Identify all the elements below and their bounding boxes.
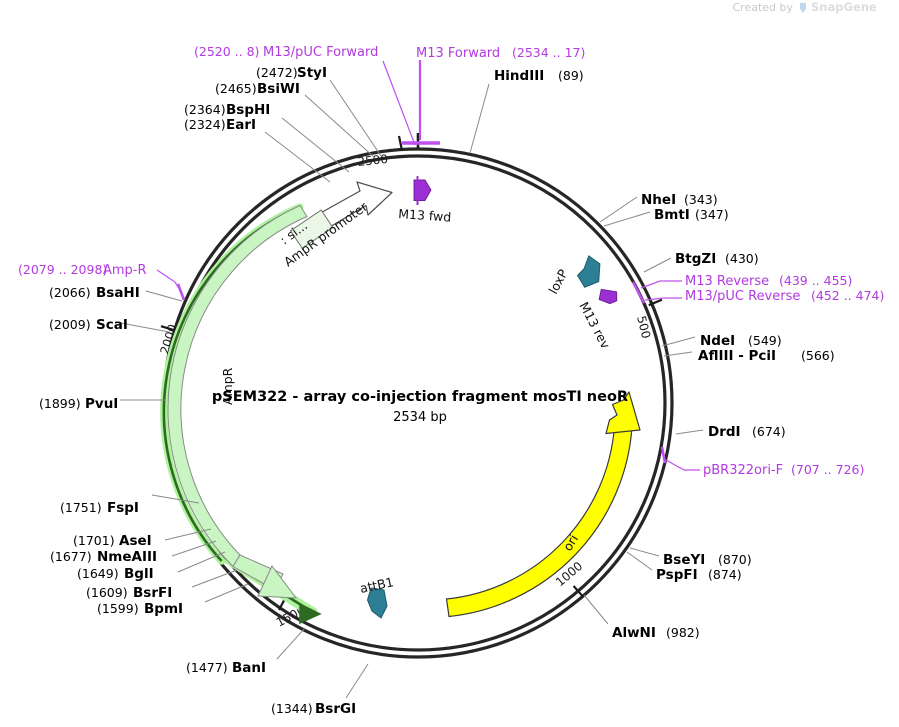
leader-line [205, 584, 248, 602]
enzyme-annotation-pvui[interactable]: (1899) PvuI [39, 396, 165, 412]
feature-ampr-promoter[interactable]: : si... AmpR promoter [277, 182, 392, 269]
primer-range: (2079 .. 2098) [18, 262, 107, 277]
primer-name: M13/pUC Reverse [685, 289, 800, 304]
primer-range: (452 .. 474) [811, 288, 884, 303]
enzyme-position: (982) [666, 625, 700, 640]
leader-line [600, 197, 637, 222]
enzyme-name: ScaI [96, 317, 128, 333]
enzyme-position: (430) [725, 251, 759, 266]
leader-line [305, 95, 375, 158]
enzyme-name: BspHI [226, 102, 270, 118]
leader-line [146, 291, 182, 301]
enzyme-name: BsiWI [257, 81, 300, 97]
enzyme-name: FspI [107, 500, 139, 516]
enzyme-position: (549) [748, 333, 782, 348]
feature-ori[interactable]: ori [447, 392, 641, 617]
leader-line [383, 61, 415, 145]
leader-line [662, 337, 695, 346]
enzyme-name: NdeI [700, 333, 735, 349]
leader-line [641, 281, 682, 288]
enzyme-name: AflIII - PciI [698, 348, 776, 364]
enzyme-name: AseI [119, 533, 152, 549]
enzyme-name: PvuI [85, 396, 118, 412]
enzyme-name: StyI [297, 65, 327, 81]
enzyme-annotation-drdi[interactable]: DrdI (674) [676, 424, 786, 440]
enzyme-name: PspFI [656, 567, 698, 583]
enzyme-name: BsrFI [133, 585, 172, 601]
primer-range: (2534 .. 17) [512, 45, 585, 60]
primer-range: (2520 .. 8) [194, 44, 259, 59]
enzyme-annotation-bsrgi[interactable]: (1344) BsrGI [271, 664, 368, 717]
enzyme-name: BsaHI [96, 285, 140, 301]
loxp-label: loxP [545, 266, 571, 296]
page-title: pSEM322 - array co-injection fragment mo… [212, 389, 628, 405]
enzyme-annotation-bmti[interactable]: BmtI (347) [604, 207, 729, 226]
primer-range: (707 .. 726) [791, 462, 864, 477]
enzyme-name: EarI [226, 117, 256, 133]
enzyme-name: BtgZI [675, 251, 716, 267]
primer-annotation-m13puc-reverse[interactable]: M13/pUC Reverse (452 .. 474) [645, 288, 884, 304]
enzyme-position: (2009) [49, 317, 91, 332]
feature-m13-rev[interactable]: M13 rev [576, 285, 620, 351]
enzyme-position: (870) [718, 552, 752, 567]
enzyme-annotation-btgzi[interactable]: BtgZI (430) [644, 251, 759, 272]
attb1-label: attB1 [359, 574, 395, 596]
enzyme-name: BmtI [654, 207, 690, 223]
primer-annotation-m13-forward[interactable]: M13 Forward (2534 .. 17) [402, 45, 585, 143]
enzyme-position: (343) [684, 192, 718, 207]
leader-line [627, 552, 652, 570]
enzyme-name: HindIII [494, 68, 544, 84]
enzyme-name: BanI [232, 660, 266, 676]
feature-loxp[interactable]: loxP [545, 254, 603, 296]
primer-name: Amp-R [103, 263, 147, 278]
primer-span-bar [178, 284, 184, 300]
leader-line [277, 628, 305, 659]
snapgene-watermark: Created by SnapGene [732, 0, 876, 14]
leader-line [676, 430, 703, 434]
m13-rev-label: M13 rev [576, 299, 613, 351]
leader-line [666, 460, 700, 470]
enzyme-name: BsrGI [315, 701, 356, 717]
enzyme-name: AlwNI [612, 625, 656, 641]
leader-line [157, 270, 183, 295]
enzyme-position: (674) [752, 424, 786, 439]
leader-line [346, 664, 368, 698]
enzyme-name: BpmI [144, 601, 183, 617]
enzyme-name: NmeAIII [97, 549, 157, 565]
feature-attb1[interactable]: attB1 [359, 574, 395, 618]
enzyme-position: (1477) [186, 660, 228, 675]
leader-line [470, 84, 489, 153]
feature-m13-fwd[interactable]: M13 fwd [398, 176, 452, 225]
enzyme-name: NheI [641, 192, 676, 208]
enzyme-position: (1649) [77, 566, 119, 581]
watermark-brand: SnapGene [811, 0, 877, 14]
enzyme-position: (566) [801, 348, 835, 363]
m13-rev-arrow-icon [597, 285, 620, 306]
primer-span-bar [662, 447, 665, 463]
enzyme-annotation-bsahi[interactable]: (2066) BsaHI [49, 285, 182, 301]
enzyme-position: (1609) [86, 585, 128, 600]
enzyme-position: (1899) [39, 396, 81, 411]
leader-line [330, 80, 381, 156]
enzyme-annotation-bani[interactable]: (1477) BanI [186, 628, 305, 676]
leader-line [192, 570, 237, 587]
enzyme-annotation-scai[interactable]: (2009) ScaI [49, 317, 169, 333]
primer-name: pBR322ori-F [703, 463, 783, 478]
enzyme-position: (1344) [271, 701, 313, 716]
enzyme-position: (89) [558, 68, 584, 83]
primer-name: M13 Forward [416, 46, 500, 61]
tick-2500: 2500 [357, 136, 402, 169]
ori-body [447, 426, 633, 617]
primer-name: M13/pUC Forward [263, 45, 378, 60]
plasmid-map-canvas: Created by SnapGene 500 1000 1500 2000 [0, 0, 899, 727]
plasmid-size: 2534 bp [393, 410, 447, 425]
enzyme-name: DrdI [708, 424, 741, 440]
enzyme-position: (1751) [60, 500, 102, 515]
leader-line [644, 258, 671, 272]
enzyme-position: (2066) [49, 285, 91, 300]
enzyme-position: (347) [695, 207, 729, 222]
enzyme-annotation-hindiii[interactable]: HindIII (89) [470, 68, 584, 153]
leader-line [630, 548, 659, 556]
snapgene-logo-icon [800, 3, 806, 13]
enzyme-annotation-ndei[interactable]: NdeI (549) [662, 333, 782, 349]
enzyme-annotation-styi[interactable]: (2472) StyI [256, 65, 381, 156]
enzyme-position: (2364) [184, 102, 226, 117]
enzyme-position: (1701) [73, 533, 115, 548]
primer-range: (439 .. 455) [779, 273, 852, 288]
enzyme-position: (874) [708, 567, 742, 582]
plasmid-title-block: pSEM322 - array co-injection fragment mo… [212, 389, 628, 425]
enzyme-annotation-afliii-pcii[interactable]: AflIII - PciI (566) [664, 348, 835, 364]
tick-label: 2500 [357, 152, 389, 169]
enzyme-name: BglI [124, 566, 154, 582]
loxp-arrow-icon [575, 254, 603, 289]
leader-line [584, 595, 608, 624]
enzyme-annotation-alwni[interactable]: AlwNI (982) [584, 595, 700, 641]
primer-annotation-pbr322ori-f[interactable]: pBR322ori-F (707 .. 726) [662, 447, 864, 478]
enzyme-position: (2324) [184, 117, 226, 132]
enzyme-name: BseYI [663, 552, 705, 568]
enzyme-annotation-asei[interactable]: (1701) AseI [73, 529, 211, 549]
enzyme-position: (1677) [50, 549, 92, 564]
enzyme-annotation-bseyi[interactable]: BseYI (870) [630, 548, 752, 568]
enzyme-position: (1599) [97, 601, 139, 616]
primer-name: M13 Reverse [685, 274, 769, 289]
enzyme-position: (2465) [215, 81, 257, 96]
m13-fwd-label: M13 fwd [398, 206, 452, 225]
watermark-prefix: Created by [732, 1, 793, 14]
leader-line [265, 132, 330, 182]
enzyme-position: (2472) [256, 65, 298, 80]
